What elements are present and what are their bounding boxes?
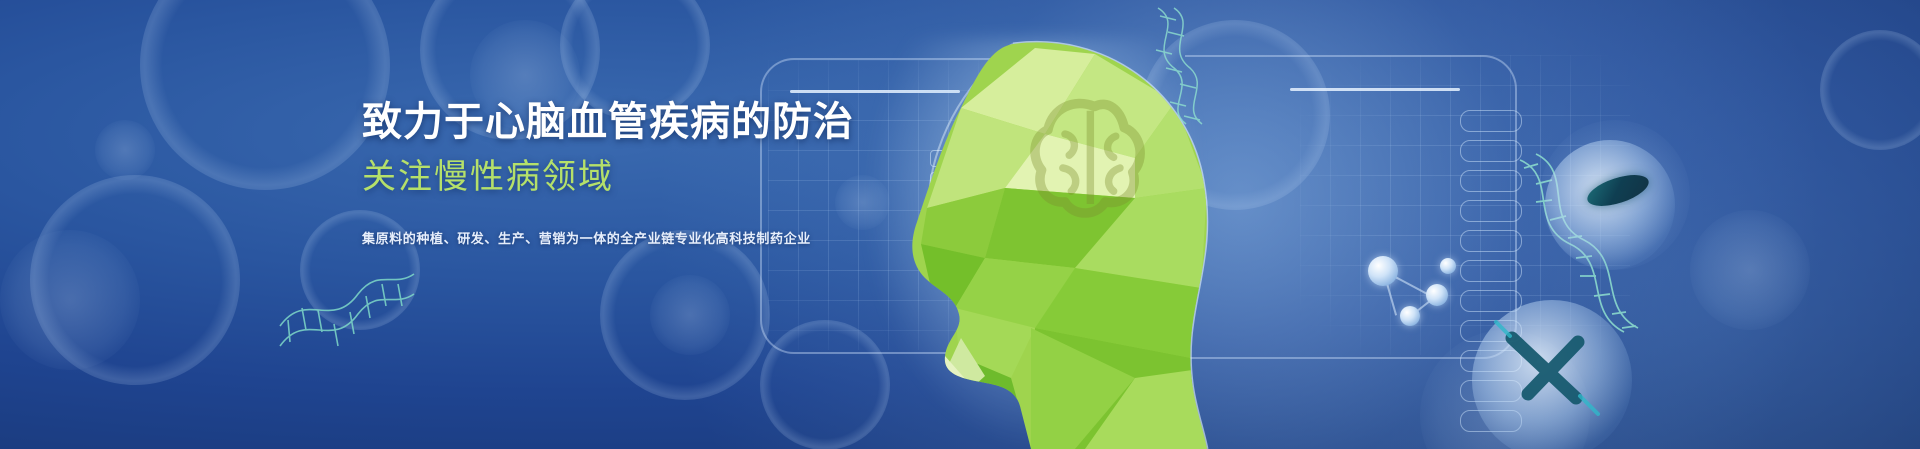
bokeh-circle: [600, 230, 770, 400]
bokeh-circle: [0, 230, 140, 370]
hero-banner: 致力于心脑血管疾病的防治 关注慢性病领域 集原料的种植、研发、生产、营销为一体的…: [0, 0, 1920, 449]
molecule-atom: [1426, 284, 1448, 306]
bokeh-circle: [140, 0, 390, 190]
molecule-atom: [1400, 306, 1420, 326]
bacteria-icon: [1492, 318, 1612, 428]
molecule-icon: [1360, 240, 1470, 350]
page-subtitle: 关注慢性病领域: [362, 152, 922, 202]
hud-tick: [1290, 88, 1460, 91]
page-tagline: 集原料的种植、研发、生产、营销为一体的全产业链专业化高科技制药企业: [362, 228, 922, 250]
hud-pill: [1460, 110, 1522, 132]
bokeh-circle: [1820, 30, 1920, 150]
bokeh-circle: [95, 120, 155, 180]
molecule-atom: [1440, 258, 1456, 274]
molecule-atom: [1368, 256, 1398, 286]
bokeh-circle: [30, 175, 240, 385]
dna-helix-icon: [1140, 6, 1210, 126]
dna-helix-icon: [272, 268, 422, 358]
page-title: 致力于心脑血管疾病的防治: [362, 96, 922, 148]
hero-copy: 致力于心脑血管疾病的防治 关注慢性病领域 集原料的种植、研发、生产、营销为一体的…: [362, 96, 922, 250]
bokeh-circle: [1690, 210, 1810, 330]
bokeh-circle: [650, 275, 730, 355]
